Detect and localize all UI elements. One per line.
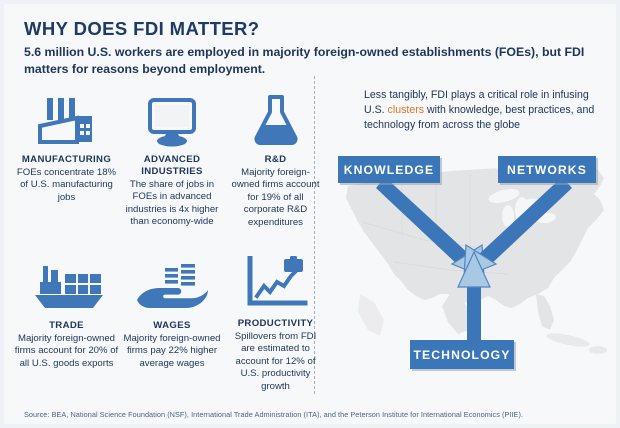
stat-trade: TRADE Majority foreign-owned firms accou…: [14, 256, 119, 370]
node-knowledge[interactable]: KNOWLEDGE: [338, 156, 440, 183]
node-networks[interactable]: NETWORKS: [498, 156, 596, 183]
factory-icon: [14, 90, 119, 148]
cluster-diagram: KNOWLEDGE NETWORKS TECHNOLOGY: [332, 144, 616, 390]
stat-body: Majority foreign-owned firms pay 22% hig…: [122, 333, 222, 370]
stat-body: Spillovers from FDI are estimated to acc…: [228, 331, 323, 393]
stat-body: FOEs concentrate 18% of U.S. manufacturi…: [14, 167, 119, 204]
stat-manufacturing: MANUFACTURING FOEs concentrate 18% of U.…: [14, 90, 119, 204]
stat-heading: PRODUCTIVITY: [228, 318, 323, 330]
page-title: WHY DOES FDI MATTER?: [24, 18, 259, 40]
page-subtitle: 5.6 million U.S. workers are employed in…: [24, 44, 604, 77]
monitor-icon: [122, 90, 222, 148]
node-label: KNOWLEDGE: [344, 163, 434, 177]
stat-heading: R&D: [228, 154, 323, 166]
source-note: Source: BEA, National Science Foundation…: [24, 410, 609, 419]
stat-body: The share of jobs in FOEs in advanced in…: [122, 179, 222, 229]
stat-heading: TRADE: [14, 320, 119, 332]
stat-body: Majority foreign-owned firms account for…: [228, 167, 323, 229]
node-technology[interactable]: TECHNOLOGY: [410, 340, 514, 369]
stat-productivity: PRODUCTIVITY Spillovers from FDI are est…: [228, 254, 323, 393]
flask-icon: [228, 90, 323, 148]
node-label: NETWORKS: [507, 163, 587, 177]
stat-heading: MANUFACTURING: [14, 154, 119, 166]
cargo-ship-icon: [14, 256, 119, 314]
right-panel-lead: Less tangibly, FDI plays a critical role…: [364, 88, 599, 133]
node-label: TECHNOLOGY: [414, 348, 511, 362]
stat-body: Majority foreign-owned firms account for…: [14, 333, 119, 370]
hand-coins-icon: [122, 256, 222, 314]
stat-heading: WAGES: [122, 320, 222, 332]
stat-advanced-industries: ADVANCED INDUSTRIES The share of jobs in…: [122, 90, 222, 229]
stat-rd: R&D Majority foreign-owned firms account…: [228, 90, 323, 229]
lead-highlight-clusters: clusters: [388, 104, 425, 116]
growth-chart-icon: [228, 254, 323, 312]
stat-wages: WAGES Majority foreign-owned firms pay 2…: [122, 256, 222, 370]
stat-heading: ADVANCED INDUSTRIES: [122, 154, 222, 178]
infographic-page: WHY DOES FDI MATTER? 5.6 million U.S. wo…: [0, 0, 620, 428]
